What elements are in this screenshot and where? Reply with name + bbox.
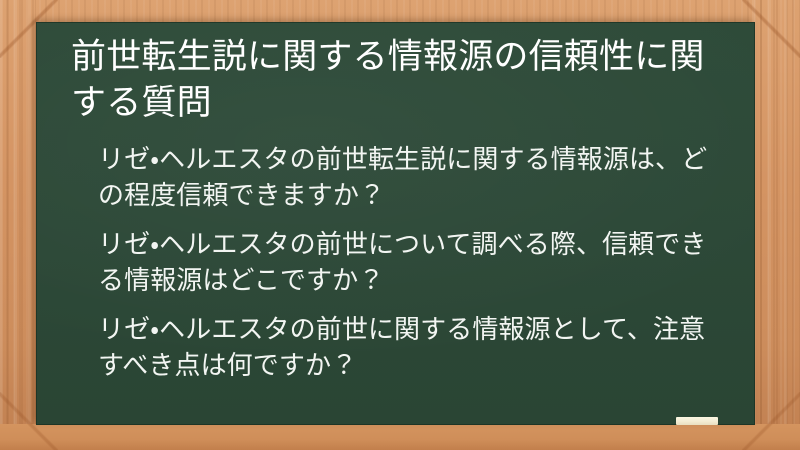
chalkboard-surface: 前世転生説に関する情報源の信頼性に関する質問 リゼ・ヘルエスタの前世転生説に関す… bbox=[36, 22, 755, 425]
question-item: リゼ・ヘルエスタの前世転生説に関する情報源は、どの程度信頼できますか？ bbox=[98, 141, 723, 214]
frame-rail-right bbox=[752, 0, 800, 450]
chalkboard-slide: 前世転生説に関する情報源の信頼性に関する質問 リゼ・ヘルエスタの前世転生説に関す… bbox=[0, 0, 800, 450]
question-item: リゼ・ヘルエスタの前世について調べる際、信頼できる情報源はどこですか？ bbox=[98, 226, 723, 299]
chalkboard-content: 前世転生説に関する情報源の信頼性に関する質問 リゼ・ヘルエスタの前世転生説に関す… bbox=[36, 22, 755, 425]
slide-title: 前世転生説に関する情報源の信頼性に関する質問 bbox=[71, 34, 733, 125]
question-list: リゼ・ヘルエスタの前世転生説に関する情報源は、どの程度信頼できますか？ リゼ・ヘ… bbox=[71, 141, 733, 383]
question-item: リゼ・ヘルエスタの前世に関する情報源として、注意すべき点は何ですか？ bbox=[98, 311, 723, 384]
frame-rail-left bbox=[0, 0, 36, 450]
frame-rail-bottom bbox=[0, 424, 800, 450]
chalk-stick-icon bbox=[676, 417, 718, 425]
